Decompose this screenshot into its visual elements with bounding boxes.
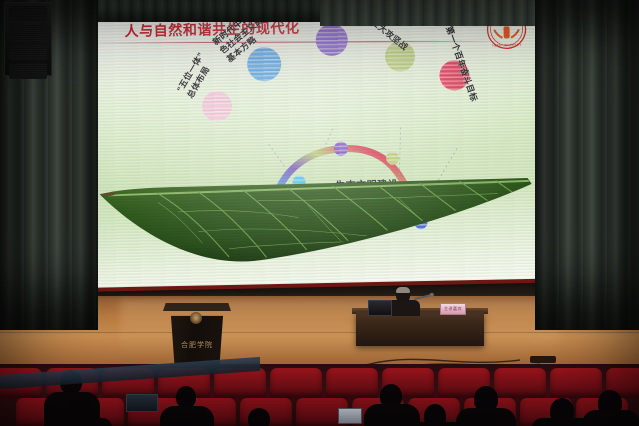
audience-laptop xyxy=(338,408,362,424)
audience-shoulders xyxy=(456,408,516,426)
podium-label: 合肥学院 xyxy=(171,340,223,350)
ceiling-speaker-icon xyxy=(4,2,52,76)
audience-shoulders xyxy=(582,410,639,426)
podium-emblem-icon xyxy=(190,312,202,324)
audience-shoulders xyxy=(50,418,112,426)
led-screen: 人与自然和谐共生的现代化 合 肥 学 院 HEFEI UNIVERSITY xyxy=(76,0,548,288)
auditorium-scene: 人与自然和谐共生的现代化 合 肥 学 院 HEFEI UNIVERSITY xyxy=(0,0,639,426)
name-placard: 主讲嘉宾 xyxy=(440,303,466,315)
leaf-image xyxy=(79,147,548,288)
audience-head xyxy=(176,386,196,408)
speaker-hair xyxy=(396,287,410,293)
audience-head xyxy=(248,408,270,426)
floor-seam xyxy=(0,332,639,333)
podium-top xyxy=(163,303,231,311)
stage-curtain-right xyxy=(535,0,639,330)
placard-label: 主讲嘉宾 xyxy=(441,304,465,314)
audience-laptop xyxy=(126,394,158,412)
speaker-desk xyxy=(356,312,484,346)
presentation-slide: 人与自然和谐共生的现代化 合 肥 学 院 HEFEI UNIVERSITY xyxy=(76,0,548,288)
speaker-laptop xyxy=(368,300,392,316)
